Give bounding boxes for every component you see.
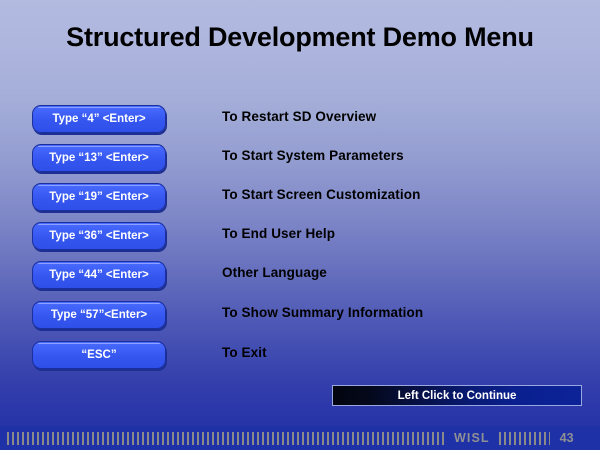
menu-description-6: To Show Summary Information xyxy=(222,305,423,320)
menu-key-button-4[interactable]: Type “36” <Enter> xyxy=(32,222,166,250)
menu-row: Type “13” <Enter> To Start System Parame… xyxy=(0,144,600,176)
footer-tick-marks-left xyxy=(7,432,445,445)
menu-description-3: To Start Screen Customization xyxy=(222,187,420,202)
menu-key-button-2[interactable]: Type “13” <Enter> xyxy=(32,144,166,172)
footer-page-number: 43 xyxy=(560,431,574,445)
slide-canvas: Structured Development Demo Menu Type “4… xyxy=(0,0,600,450)
menu-row: Type “44” <Enter> Other Language xyxy=(0,261,600,293)
menu-description-1: To Restart SD Overview xyxy=(222,109,376,124)
menu-row: “ESC” To Exit xyxy=(0,341,600,373)
menu-key-button-5[interactable]: Type “44” <Enter> xyxy=(32,261,166,289)
menu-description-2: To Start System Parameters xyxy=(222,148,404,163)
left-click-to-continue-button[interactable]: Left Click to Continue xyxy=(332,385,582,406)
menu-key-button-6[interactable]: Type “57”<Enter> xyxy=(32,301,166,329)
menu-row: Type “57”<Enter> To Show Summary Informa… xyxy=(0,301,600,333)
footer-brand-label: WISL xyxy=(454,431,490,445)
menu-key-button-3[interactable]: Type “19” <Enter> xyxy=(32,183,166,211)
menu-row: Type “19” <Enter> To Start Screen Custom… xyxy=(0,183,600,215)
footer-tick-marks-right xyxy=(499,432,550,445)
footer-bar: WISL 43 xyxy=(0,426,600,450)
page-title: Structured Development Demo Menu xyxy=(0,22,600,54)
menu-description-7: To Exit xyxy=(222,345,267,360)
menu-description-5: Other Language xyxy=(222,265,327,280)
menu-row: Type “36” <Enter> To End User Help xyxy=(0,222,600,254)
menu-key-button-1[interactable]: Type “4” <Enter> xyxy=(32,105,166,133)
menu-row: Type “4” <Enter> To Restart SD Overview xyxy=(0,105,600,137)
menu-key-button-7[interactable]: “ESC” xyxy=(32,341,166,369)
menu-description-4: To End User Help xyxy=(222,226,335,241)
